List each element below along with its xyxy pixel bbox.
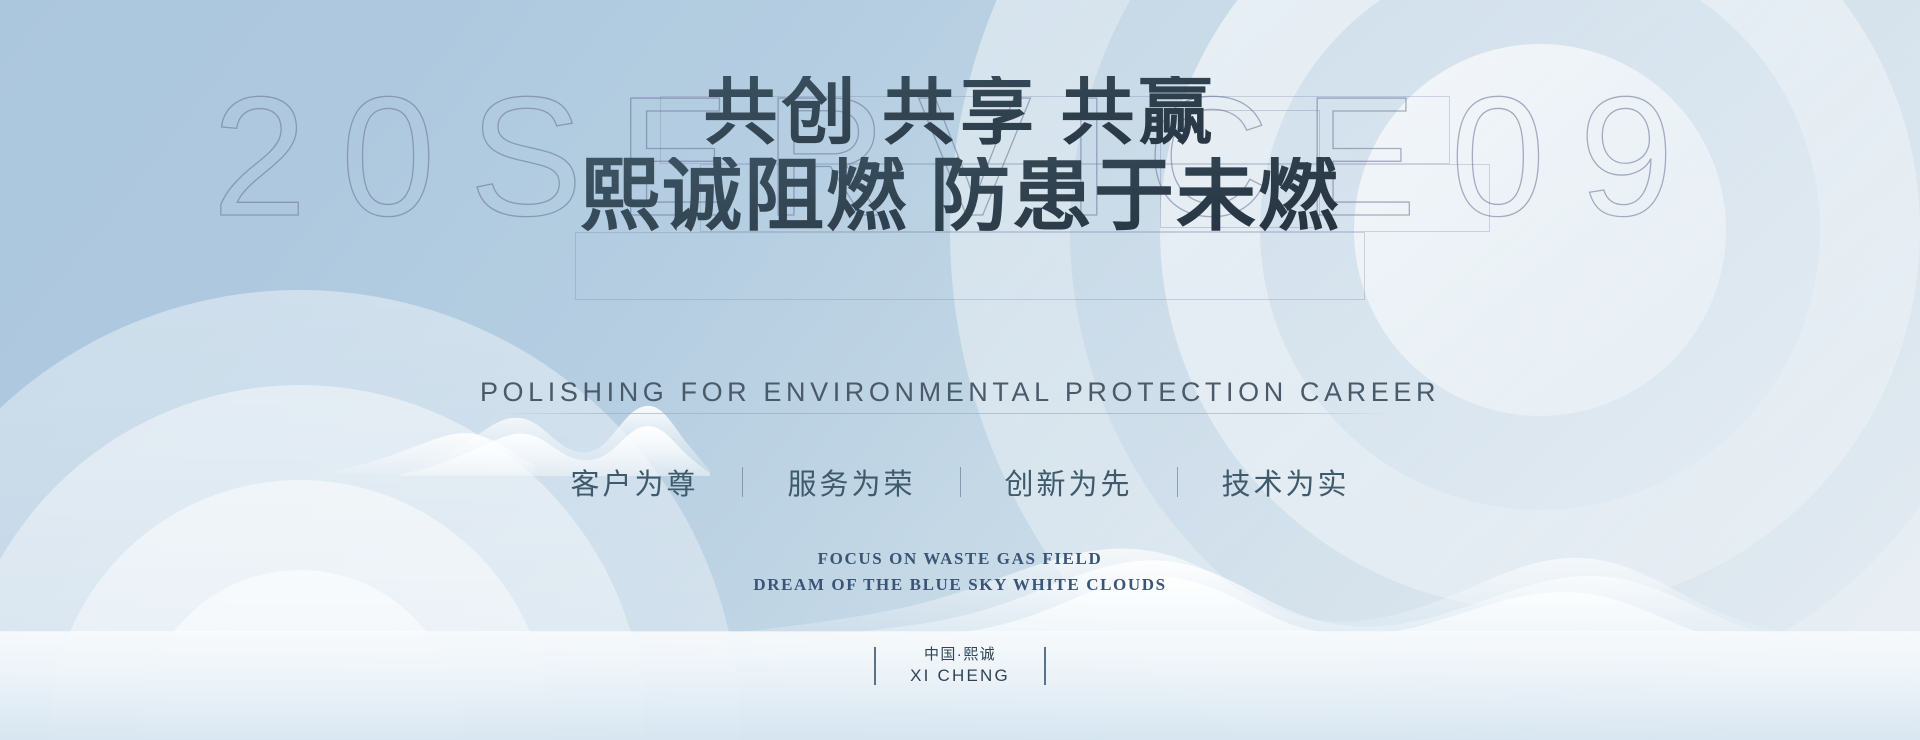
promotional-banner: 20SERVICE09 共创 共享 共赢 熙诚阻燃 防患于未燃 <box>0 0 1920 740</box>
value-separator-2 <box>960 467 961 497</box>
logo-english: XI CHENG <box>910 665 1010 688</box>
value-separator-3 <box>1177 467 1178 497</box>
value-item-3: 创新为先 <box>1005 461 1133 503</box>
logo-rule-right <box>1044 647 1046 685</box>
logo-rule-left <box>874 647 876 685</box>
value-separator-1 <box>742 467 743 497</box>
logo-lockup: 中国·熙诚 XI CHENG <box>0 645 1920 688</box>
floor-highlight-line <box>0 631 1920 632</box>
core-values-row: 客户为尊 服务为荣 创新为先 技术为实 <box>0 461 1920 503</box>
english-couplet: FOCUS ON WASTE GAS FIELD DREAM OF THE BL… <box>0 546 1920 599</box>
value-item-4: 技术为实 <box>1222 461 1350 503</box>
headline-line-1: 共创 共享 共赢 <box>0 76 1920 151</box>
subtitle-divider <box>497 413 1393 414</box>
value-item-1: 客户为尊 <box>570 461 698 503</box>
headline-line-2: 熙诚阻燃 防患于未燃 <box>0 157 1920 239</box>
value-item-2: 服务为荣 <box>787 461 915 503</box>
subtitle-english: POLISHING FOR ENVIRONMENTAL PROTECTION C… <box>0 377 1920 408</box>
couplet-line-1: FOCUS ON WASTE GAS FIELD <box>0 546 1920 572</box>
couplet-line-2: DREAM OF THE BLUE SKY WHITE CLOUDS <box>0 572 1920 598</box>
ring-3 <box>50 480 550 740</box>
logo-text: 中国·熙诚 XI CHENG <box>910 645 1010 688</box>
logo-chinese: 中国·熙诚 <box>910 645 1010 665</box>
frame-rect-3 <box>575 232 1365 300</box>
headline-block: 共创 共享 共赢 熙诚阻燃 防患于未燃 <box>0 76 1920 239</box>
